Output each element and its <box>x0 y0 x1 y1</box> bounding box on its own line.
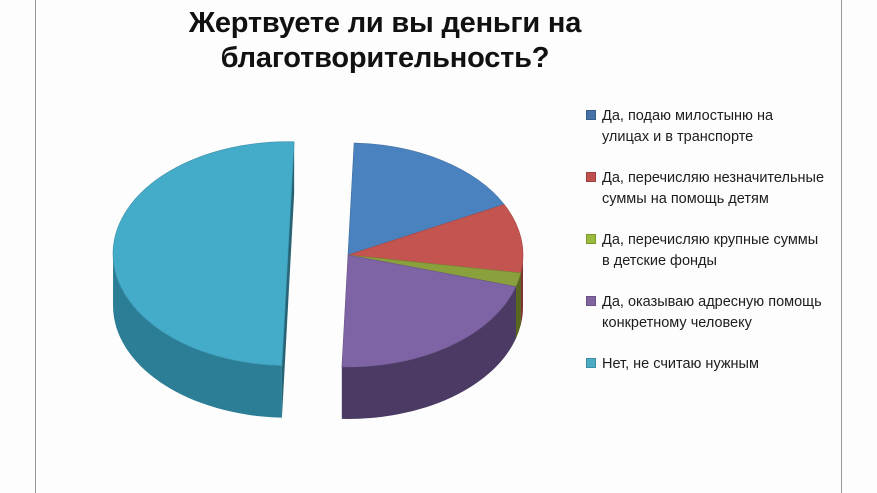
page-title-line-1: Жертвуете ли вы деньги на <box>150 6 620 41</box>
legend-item[interactable]: Да, подаю милостыню на улицах и в трансп… <box>586 106 836 148</box>
chart-canvas: Жертвуете ли вы деньги на благотворитель… <box>0 0 877 493</box>
legend-item-label: Нет, не считаю нужным <box>602 354 759 375</box>
pie-tops <box>113 142 523 367</box>
legend-item-label: Да, оказываю адресную помощь конкретному… <box>602 292 824 334</box>
legend-item[interactable]: Да, перечисляю крупные суммы в детские ф… <box>586 230 836 272</box>
legend-swatch-icon <box>586 172 596 182</box>
legend-swatch-icon <box>586 234 596 244</box>
page-title-line-2: благотворительность? <box>150 41 620 76</box>
legend-item[interactable]: Нет, не считаю нужным <box>586 354 836 375</box>
chart-legend: Да, подаю милостыню на улицах и в трансп… <box>586 106 836 375</box>
legend-swatch-icon <box>586 358 596 368</box>
legend-item-label: Да, подаю милостыню на улицах и в трансп… <box>602 106 824 148</box>
pie-chart-svg <box>40 120 600 450</box>
legend-item[interactable]: Да, оказываю адресную помощь конкретному… <box>586 292 836 334</box>
legend-swatch-icon <box>586 296 596 306</box>
legend-swatch-icon <box>586 110 596 120</box>
legend-item[interactable]: Да, перечисляю незначительные суммы на п… <box>586 168 836 210</box>
legend-item-label: Да, перечисляю незначительные суммы на п… <box>602 168 824 210</box>
page-title: Жертвуете ли вы деньги на благотворитель… <box>150 6 620 77</box>
right-border-rule <box>841 0 842 493</box>
pie-chart <box>40 120 600 450</box>
legend-item-label: Да, перечисляю крупные суммы в детские ф… <box>602 230 824 272</box>
left-border-rule <box>35 0 36 493</box>
